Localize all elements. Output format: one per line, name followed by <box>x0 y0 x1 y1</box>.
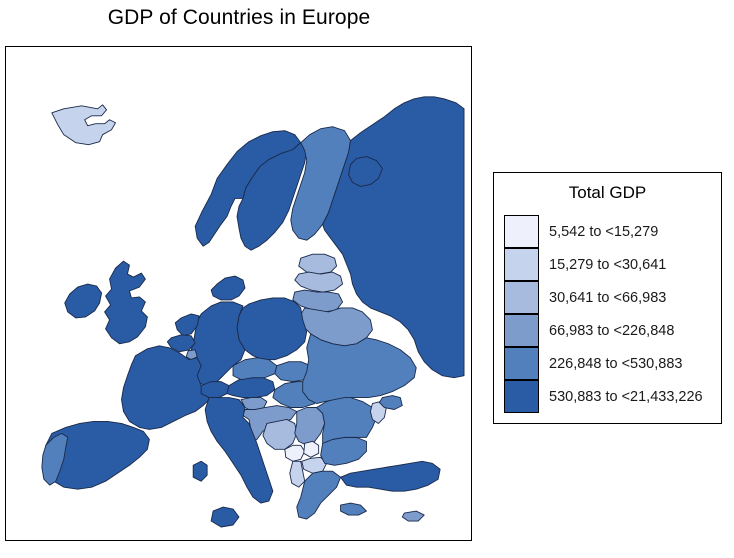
region-united-kingdom[interactable] <box>105 261 148 344</box>
region-iceland[interactable] <box>52 105 116 145</box>
region-austria[interactable] <box>227 378 275 398</box>
region-ireland[interactable] <box>65 284 102 318</box>
legend-panel: Total GDP 5,542 to <15,279 15,279 to <30… <box>493 172 722 424</box>
legend-swatch-6 <box>504 380 539 413</box>
region-romania[interactable] <box>317 398 377 444</box>
region-turkey[interactable] <box>341 461 441 491</box>
legend-label-5: 226,848 to <530,883 <box>549 356 682 372</box>
page-title: GDP of Countries in Europe <box>0 6 478 30</box>
region-cyprus[interactable] <box>402 511 424 521</box>
legend-swatch-5 <box>504 347 539 380</box>
legend-item[interactable]: 226,848 to <530,883 <box>504 347 714 380</box>
legend-item[interactable]: 66,983 to <226,848 <box>504 314 714 347</box>
legend-swatch-1 <box>504 215 539 248</box>
legend-swatch-4 <box>504 314 539 347</box>
legend-swatch-3 <box>504 281 539 314</box>
region-denmark[interactable] <box>211 276 245 300</box>
legend-label-1: 5,542 to <15,279 <box>549 224 658 240</box>
region-montenegro[interactable] <box>285 445 305 461</box>
legend-item[interactable]: 530,883 to <21,433,226 <box>504 380 714 413</box>
region-estonia[interactable] <box>299 254 337 274</box>
region-france[interactable] <box>122 346 212 430</box>
legend-label-6: 530,883 to <21,433,226 <box>549 389 703 405</box>
region-kosovo[interactable] <box>304 441 319 457</box>
legend-item[interactable]: 15,279 to <30,641 <box>504 248 714 281</box>
region-ukraine[interactable] <box>303 334 417 404</box>
legend-item[interactable]: 30,641 to <66,983 <box>504 281 714 314</box>
region-poland[interactable] <box>237 298 307 360</box>
legend-item[interactable]: 5,542 to <15,279 <box>504 215 714 248</box>
europe-choropleth-map[interactable] <box>6 47 471 540</box>
region-latvia[interactable] <box>295 272 343 292</box>
legend-swatch-2 <box>504 248 539 281</box>
region-bosnia-and-herzegovina[interactable] <box>263 419 297 449</box>
region-serbia[interactable] <box>295 408 325 446</box>
legend-label-3: 30,641 to <66,983 <box>549 290 666 306</box>
map-panel <box>5 46 472 541</box>
legend-title: Total GDP <box>494 183 721 203</box>
legend-label-2: 15,279 to <30,641 <box>549 257 666 273</box>
region-switzerland[interactable] <box>201 382 229 398</box>
legend-label-4: 66,983 to <226,848 <box>549 323 674 339</box>
legend-item-list: 5,542 to <15,279 15,279 to <30,641 30,64… <box>504 215 714 413</box>
